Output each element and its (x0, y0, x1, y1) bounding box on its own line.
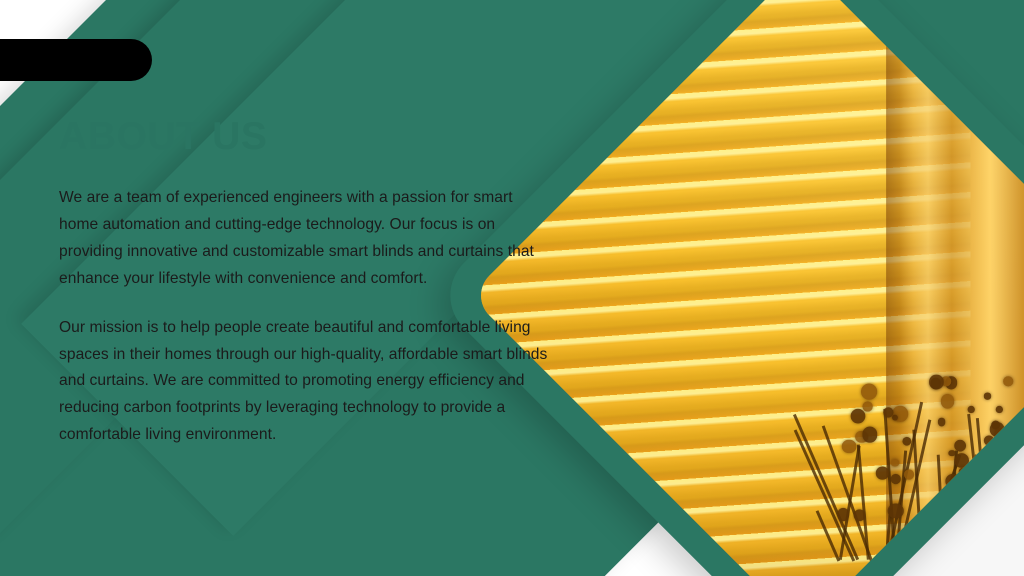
black-pill-accent (0, 39, 152, 81)
content-block: ABOUT US We are a team of experienced en… (59, 115, 559, 449)
page-title: ABOUT US (59, 115, 559, 159)
about-paragraph-2: Our mission is to help people create bea… (59, 315, 551, 450)
slide-canvas: ABOUT US We are a team of experienced en… (0, 0, 1024, 576)
about-paragraph-1: We are a team of experienced engineers w… (59, 185, 551, 293)
